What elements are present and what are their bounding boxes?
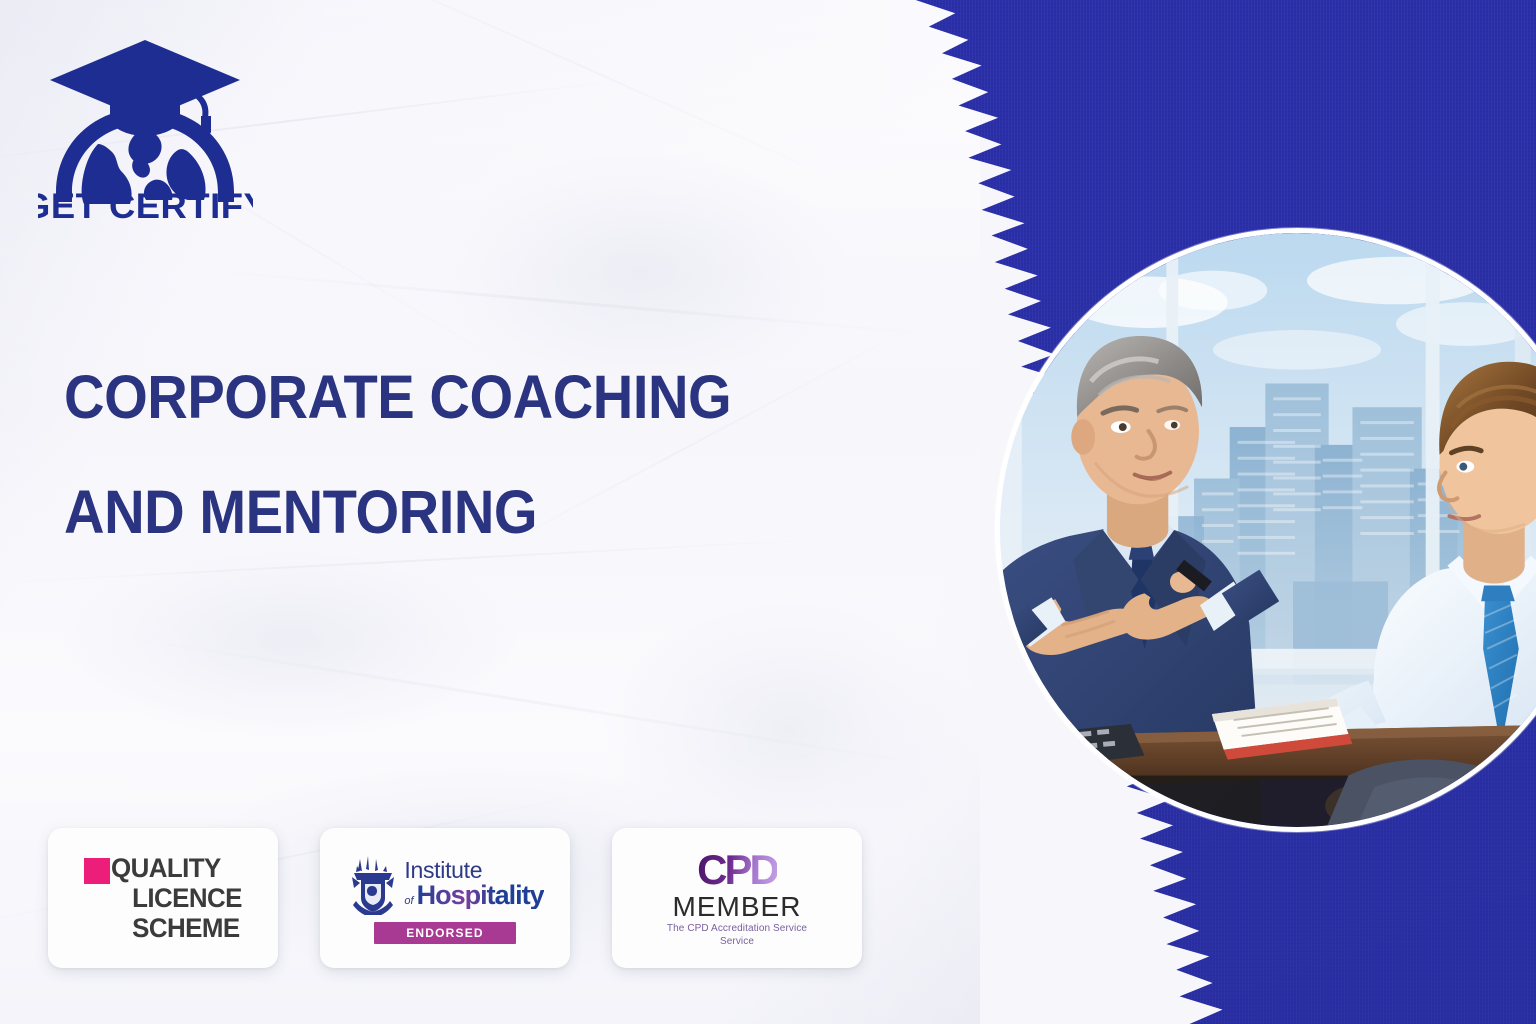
paper-crease-line: [286, 0, 853, 188]
paper-crease-line: [181, 267, 938, 336]
headline-line-2: AND MENTORING: [64, 455, 800, 570]
heraldic-crest-icon: [346, 853, 400, 915]
cpd-mark-text: CPD: [697, 849, 777, 891]
qls-line-1: QUALITY: [111, 853, 242, 883]
badge-quality-licence-scheme[interactable]: QUALITY LICENCE SCHEME: [48, 828, 278, 968]
qls-pink-square-icon: [84, 858, 110, 884]
ioh-top-row: Institute of Hospitality: [346, 853, 543, 915]
qls-lockup: QUALITY LICENCE SCHEME: [78, 853, 247, 943]
ioh-wordmark: Institute of Hospitality: [404, 859, 543, 909]
accreditation-badge-row: QUALITY LICENCE SCHEME: [48, 828, 862, 968]
headline-line-1: CORPORATE COACHING: [64, 340, 800, 455]
ioh-of-text: of: [404, 896, 413, 907]
qls-text: QUALITY LICENCE SCHEME: [111, 853, 242, 943]
qls-line-3: SCHEME: [111, 913, 242, 943]
badge-institute-of-hospitality[interactable]: Institute of Hospitality ENDORSED: [320, 828, 570, 968]
banner-root: GET CERTIFY CORPORATE COACHING AND MENTO…: [0, 0, 1536, 1024]
ioh-hospitality-text: Hospitality: [417, 882, 544, 909]
corporate-mentoring-photo: [995, 228, 1536, 832]
cpd-subtitle-line-1: The CPD Accreditation Service: [667, 923, 807, 935]
page-title: CORPORATE COACHING AND MENTORING: [64, 340, 800, 570]
cpd-lockup: CPD MEMBER The CPD Accreditation Service…: [667, 849, 807, 948]
photo-clip: [1000, 233, 1536, 827]
qls-line-2: LICENCE: [111, 883, 242, 913]
ioh-sub-row: of Hospitality: [404, 882, 543, 909]
cpd-subtitle-line-2: Service: [720, 936, 754, 948]
ioh-endorsed-ribbon: ENDORSED: [374, 922, 516, 944]
get-certify-logo[interactable]: GET CERTIFY: [38, 32, 253, 222]
cpd-member-text: MEMBER: [673, 892, 802, 922]
ioh-lockup: Institute of Hospitality ENDORSED: [320, 853, 570, 944]
ioh-institute-text: Institute: [404, 859, 543, 882]
paper-crease-line: [125, 636, 935, 767]
paper-crease-blotch: [60, 540, 520, 740]
logo-wordmark: GET CERTIFY: [38, 187, 253, 222]
badge-cpd-member[interactable]: CPD MEMBER The CPD Accreditation Service…: [612, 828, 862, 968]
